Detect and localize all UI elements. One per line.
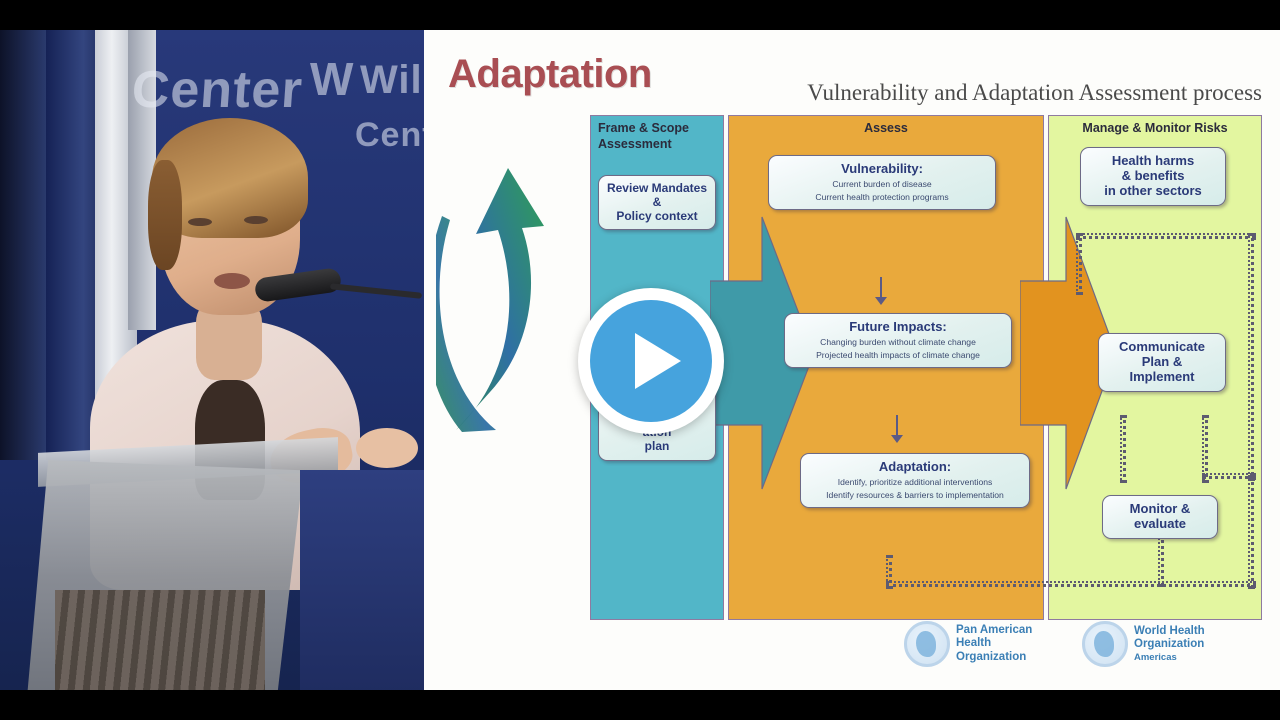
node-communicate-plan-implement: Communicate Plan & Implement [1098, 333, 1226, 392]
node-adaptation: Adaptation: Identify, prioritize additio… [800, 453, 1030, 508]
who-logo: World Health Organization Americas [1082, 621, 1205, 667]
video-frame[interactable]: W Wil Cente Center W [0, 30, 424, 690]
backdrop-wordmark: Center [130, 60, 305, 120]
feedback-line-communicate-monitor [1120, 415, 1126, 483]
backdrop-wordmark: Wil [360, 58, 423, 103]
speaker-hand-right [356, 428, 418, 468]
feedback-line-bottom [886, 581, 1256, 587]
feedback-line-communicate-right [1202, 415, 1208, 483]
speaker-eye-left [188, 218, 212, 226]
play-button[interactable] [578, 288, 724, 434]
backdrop-wordmark: W [310, 52, 354, 106]
feedback-line-right-up [1248, 475, 1254, 589]
column-header-line2: Assessment [598, 137, 723, 153]
organization-logos: Pan American Health Organization World H… [904, 615, 1274, 685]
globe-icon [904, 621, 950, 667]
backdrop-stripe [0, 30, 46, 460]
play-icon[interactable] [635, 333, 681, 389]
globe-icon [1082, 621, 1128, 667]
speaker-mouth [214, 273, 250, 289]
connector-arrowhead-2 [891, 435, 903, 443]
column-header-frame-scope: Frame & Scope Assessment [591, 121, 723, 152]
cycle-arrow-icon [436, 130, 566, 460]
who-logo-text: World Health Organization Americas [1134, 625, 1205, 663]
backdrop-wordmark: Cente [355, 116, 424, 155]
node-monitor-evaluate: Monitor & evaluate [1102, 495, 1218, 539]
podium-side-panel [300, 470, 424, 690]
column-header-manage-monitor: Manage & Monitor Risks [1049, 121, 1261, 137]
speaker-eye-right [244, 216, 268, 224]
play-button-inner[interactable] [590, 300, 712, 422]
paho-logo-text: Pan American Health Organization [956, 624, 1032, 665]
speaker-hair-side [148, 160, 182, 270]
feedback-line-left-down [1076, 233, 1082, 295]
column-header-assess: Assess [729, 121, 1043, 137]
speaker-skirt [55, 590, 265, 690]
slide-title: Adaptation [448, 52, 652, 97]
slide-subtitle: Vulnerability and Adaptation Assessment … [807, 80, 1262, 106]
feedback-line-top [1076, 233, 1256, 239]
connector-arrowhead-1 [875, 297, 887, 305]
video-player[interactable]: W Wil Cente Center W Adaptation Vulnerab… [0, 0, 1280, 720]
feedback-line-right-tall [1248, 233, 1254, 481]
presentation-slide: Adaptation Vulnerability and Adaptation … [424, 30, 1280, 690]
node-health-harms: Health harms & benefits in other sectors [1080, 147, 1226, 206]
node-vulnerability: Vulnerability: Current burden of disease… [768, 155, 996, 210]
paho-logo: Pan American Health Organization [904, 621, 1032, 667]
node-review-mandates: Review Mandates & Policy context [598, 175, 716, 230]
node-future-impacts: Future Impacts: Changing burden without … [784, 313, 1012, 368]
column-header-line1: Frame & Scope [598, 121, 723, 137]
